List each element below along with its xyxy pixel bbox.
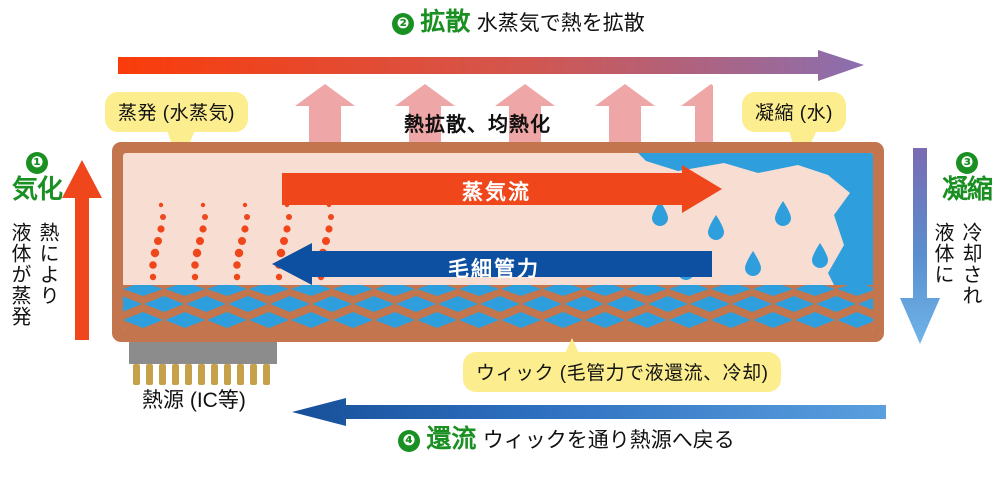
step-3-condensation-heading: ❸ 凝縮 (936, 152, 998, 204)
wick-mesh (123, 285, 873, 331)
step-4-description: ウィックを通り熱源へ戻る (483, 429, 735, 452)
step-3-detail-line1: 冷却され (959, 222, 981, 306)
step-1-number: ❶ (26, 152, 48, 174)
step-1-detail-line2: 液体が蒸発 (8, 222, 30, 327)
heat-source-chip-pins (133, 364, 275, 386)
heat-pipe-diagram: ❷ 拡散 水蒸気で熱を拡散 熱拡散、均熱化 蒸発 (水蒸気) 凝縮 (水) ❶ … (0, 0, 1000, 480)
step-2-description: 水蒸気で熱を拡散 (477, 12, 645, 35)
step-3-detail-line2: 液体に (931, 222, 953, 285)
heat-source-chip-body (129, 342, 277, 364)
step-1-keyword: 気化 (4, 174, 70, 204)
step-2-diffusion-heading: ❷ 拡散 水蒸気で熱を拡散 (392, 8, 645, 38)
step-3-keyword: 凝縮 (936, 174, 998, 204)
step-2-keyword: 拡散 (420, 8, 470, 36)
step-1-vaporization-heading: ❶ 気化 (4, 152, 70, 204)
callout-condensation: 凝縮 (水) (742, 92, 846, 132)
reflux-direction-arrow (292, 398, 886, 426)
step-4-keyword: 還流 (426, 425, 476, 453)
step-2-number: ❷ (392, 13, 414, 35)
diffusion-direction-arrow (118, 50, 864, 82)
vapor-flow-label: 蒸気流 (462, 176, 531, 206)
callout-wick: ウィック (毛管力で液還流、冷却) (463, 352, 781, 392)
step-4-number: ❹ (398, 430, 420, 452)
heat-source-label: 熱源 (IC等) (142, 384, 246, 414)
step-1-detail-line1: 熱により (36, 222, 58, 306)
heat-spread-label: 熱拡散、均熱化 (404, 108, 551, 137)
step-4-reflux-heading: ❹ 還流 ウィックを通り熱源へ戻る (398, 425, 735, 455)
callout-evaporation: 蒸発 (水蒸気) (105, 92, 248, 132)
step-3-number: ❸ (956, 152, 978, 174)
capillary-force-label: 毛細管力 (448, 253, 540, 283)
